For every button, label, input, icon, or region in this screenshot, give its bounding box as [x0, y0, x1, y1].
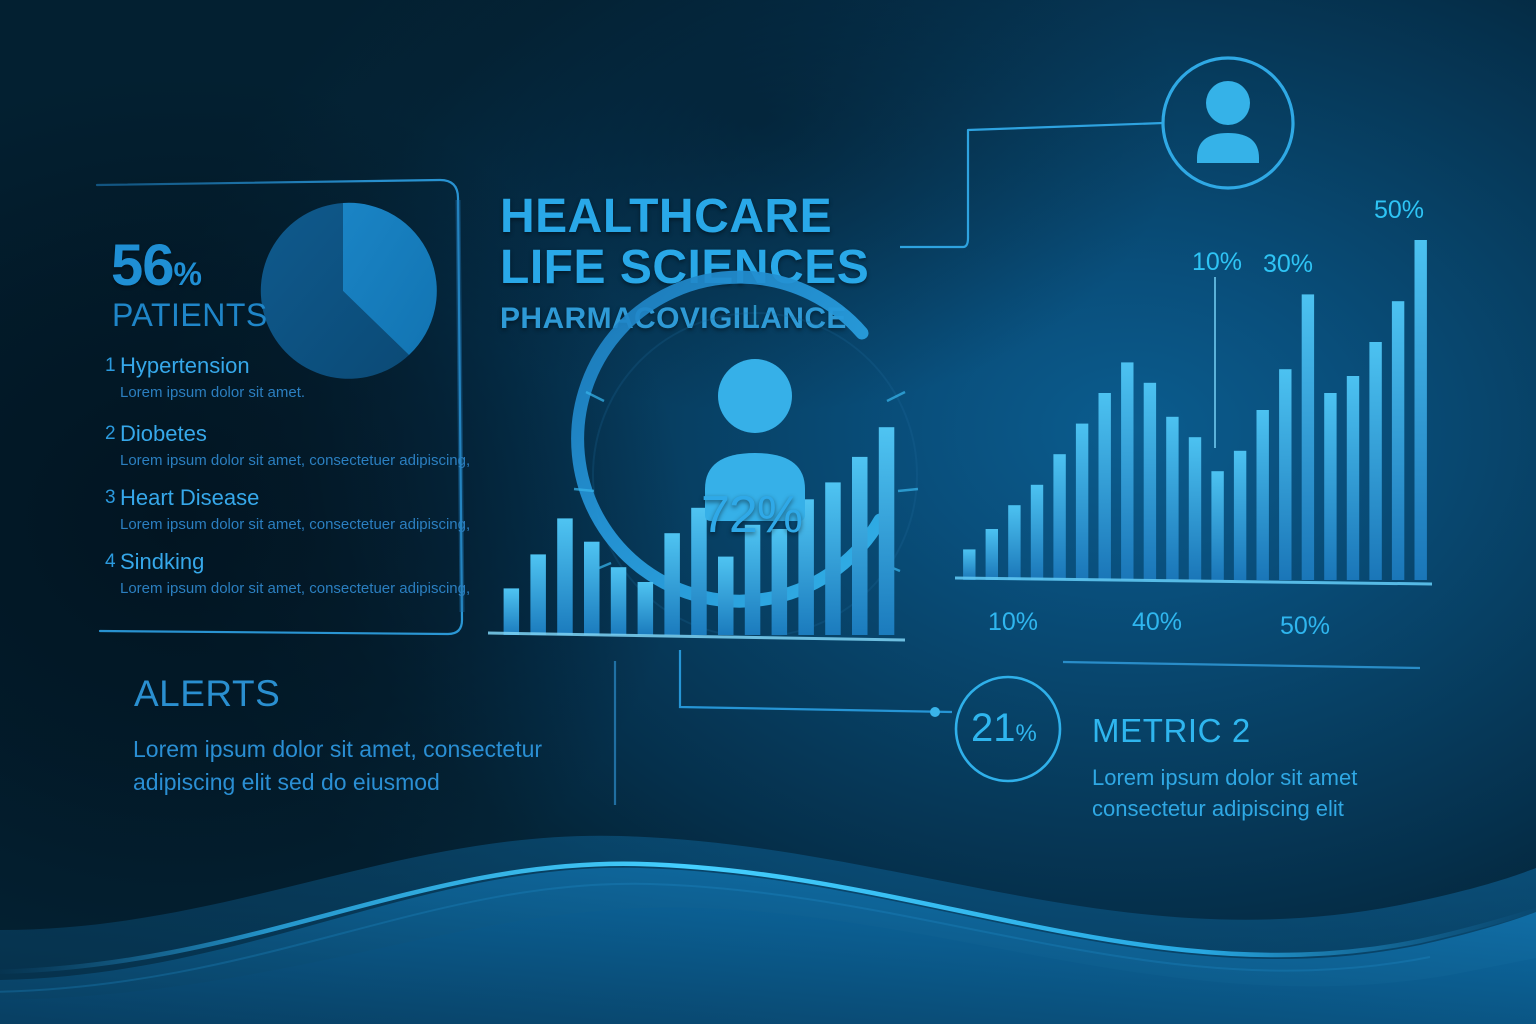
metric2-badge-value: 21% [971, 706, 1037, 751]
metric2-heading: METRIC 2 [1092, 712, 1251, 750]
infographic-canvas: 56% PATIENTS 1 Hypertension Lorem ipsum … [0, 0, 1536, 1024]
metric2-badge-ring [0, 0, 1536, 1024]
metric2-body: Lorem ipsum dolor sit amet consectetur a… [1092, 762, 1422, 824]
